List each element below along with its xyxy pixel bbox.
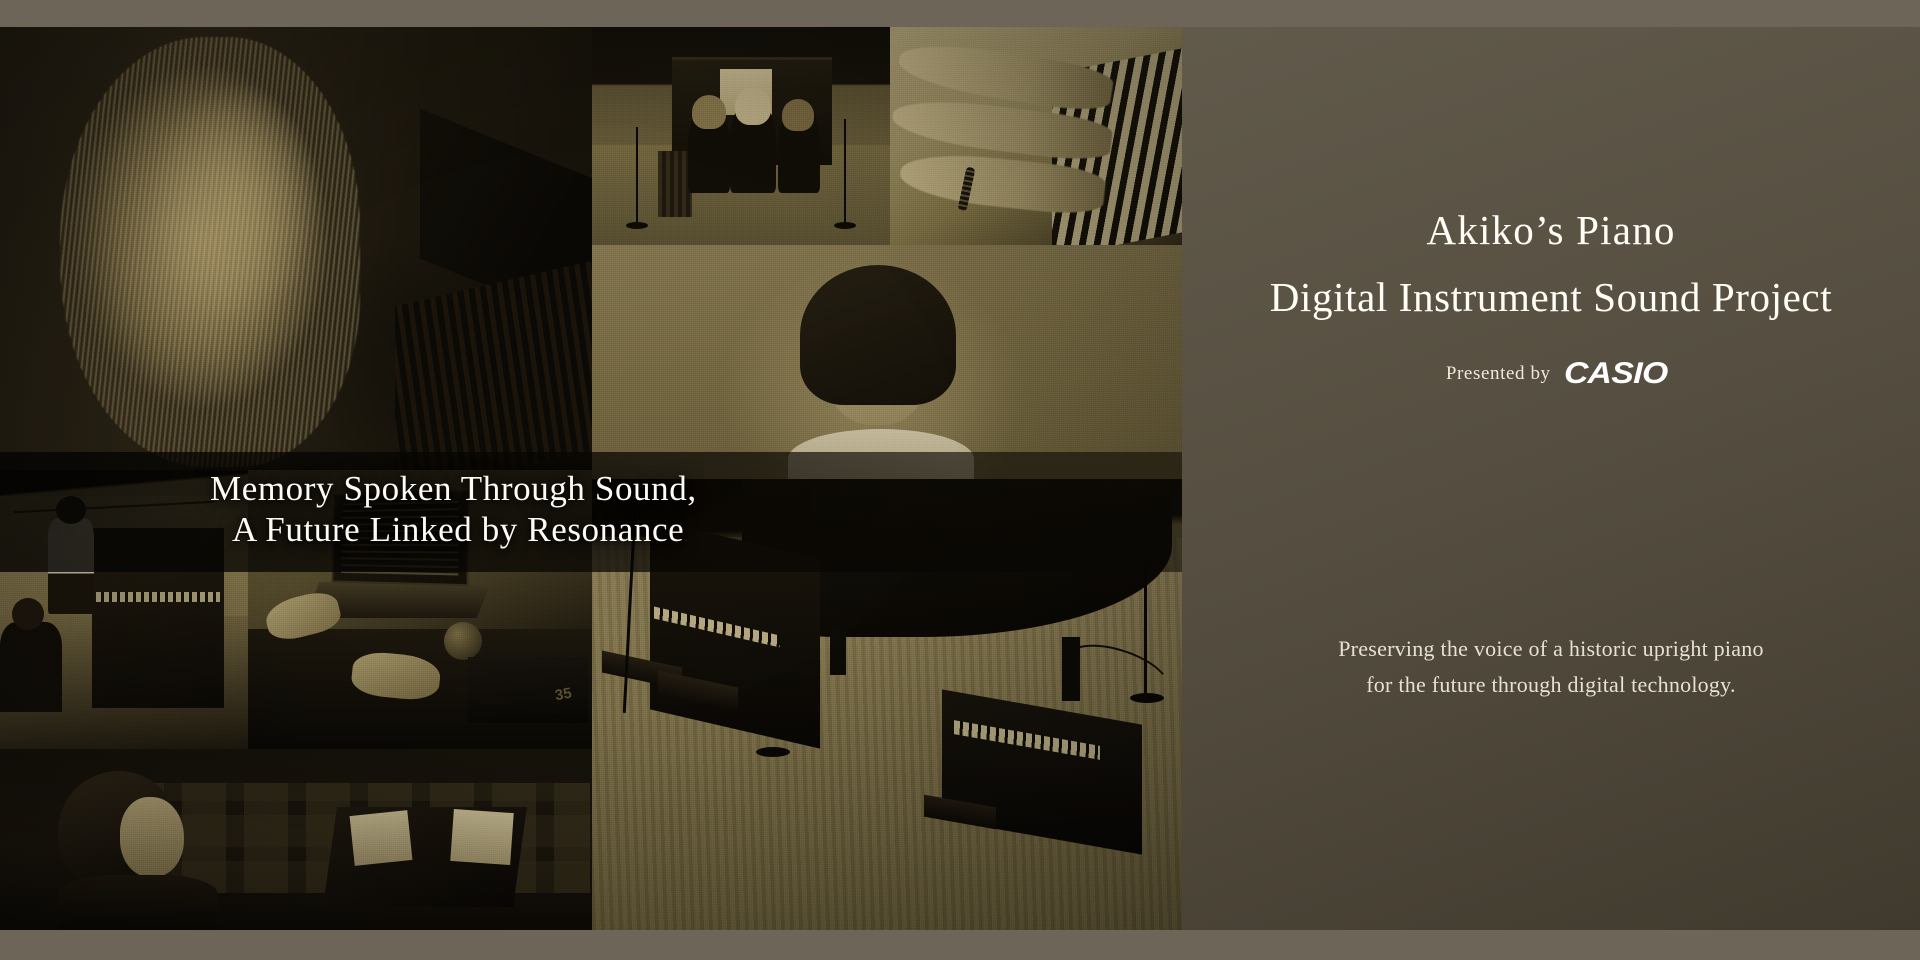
presented-by-block: Presented by CASIO bbox=[1182, 357, 1920, 391]
photo-detail-mic-base-left bbox=[626, 222, 648, 229]
collage-photo-hands-on-keyboard bbox=[890, 27, 1182, 245]
collage-photo-pianist-portrait-argerich bbox=[0, 27, 592, 470]
photo-detail-piano-keys bbox=[96, 592, 220, 602]
photo-detail-observer bbox=[0, 622, 62, 712]
photo-detail-sheet-right bbox=[450, 809, 513, 865]
photo-detail-head-center bbox=[735, 87, 771, 125]
photo-detail-sheet-left bbox=[350, 810, 413, 866]
photo-image bbox=[0, 27, 592, 470]
photo-detail-control-knob bbox=[444, 622, 482, 660]
title-block: Akiko’s Piano Digital Instrument Sound P… bbox=[1182, 205, 1920, 391]
photo-detail-piano-strings bbox=[395, 258, 592, 470]
tagline: Preserving the voice of a historic uprig… bbox=[1182, 631, 1920, 702]
photo-detail-mic-base-left bbox=[756, 747, 790, 757]
headline-line-1: Memory Spoken Through Sound, bbox=[210, 468, 1182, 509]
frame-bar-bottom bbox=[0, 930, 1920, 960]
photo-detail-torso bbox=[58, 875, 218, 930]
collage-photo-three-pianists-from-behind bbox=[592, 27, 890, 245]
photo-detail-observer-head bbox=[12, 598, 44, 630]
collage-photo-pianist-in-concert-hall bbox=[0, 749, 592, 930]
photo-detail-grand-leg-front bbox=[830, 629, 846, 675]
headline-line-2: A Future Linked by Resonance bbox=[210, 509, 1182, 550]
page-subtitle: Digital Instrument Sound Project bbox=[1182, 272, 1920, 323]
tagline-line-1: Preserving the voice of a historic uprig… bbox=[1338, 636, 1764, 661]
photo-detail-head-left bbox=[692, 95, 726, 129]
photo-image bbox=[890, 27, 1182, 245]
photo-detail-mic-base-right bbox=[834, 222, 856, 229]
photo-image bbox=[592, 27, 890, 245]
info-panel: Akiko’s Piano Digital Instrument Sound P… bbox=[1182, 0, 1920, 960]
photo-detail-hair bbox=[60, 37, 360, 467]
poster-root: 35 bbox=[0, 0, 1920, 960]
headline: Memory Spoken Through Sound, A Future Li… bbox=[0, 444, 1182, 574]
photo-detail-head-right bbox=[782, 99, 814, 131]
photo-detail-mic-stand-left bbox=[636, 127, 638, 223]
page-title: Akiko’s Piano bbox=[1182, 205, 1920, 256]
tagline-line-2: for the future through digital technolog… bbox=[1182, 667, 1920, 703]
photo-detail-face bbox=[120, 797, 184, 877]
photo-detail-hair bbox=[800, 265, 956, 405]
photo-detail-mic-stand-right bbox=[844, 119, 846, 223]
photo-detail-chair bbox=[658, 151, 692, 217]
frame-bar-top bbox=[0, 0, 1920, 27]
photo-image bbox=[0, 749, 592, 930]
photo-detail-device-marking: 35 bbox=[554, 685, 573, 705]
casio-logo: CASIO bbox=[1563, 357, 1667, 391]
presented-by-label: Presented by bbox=[1446, 363, 1551, 385]
